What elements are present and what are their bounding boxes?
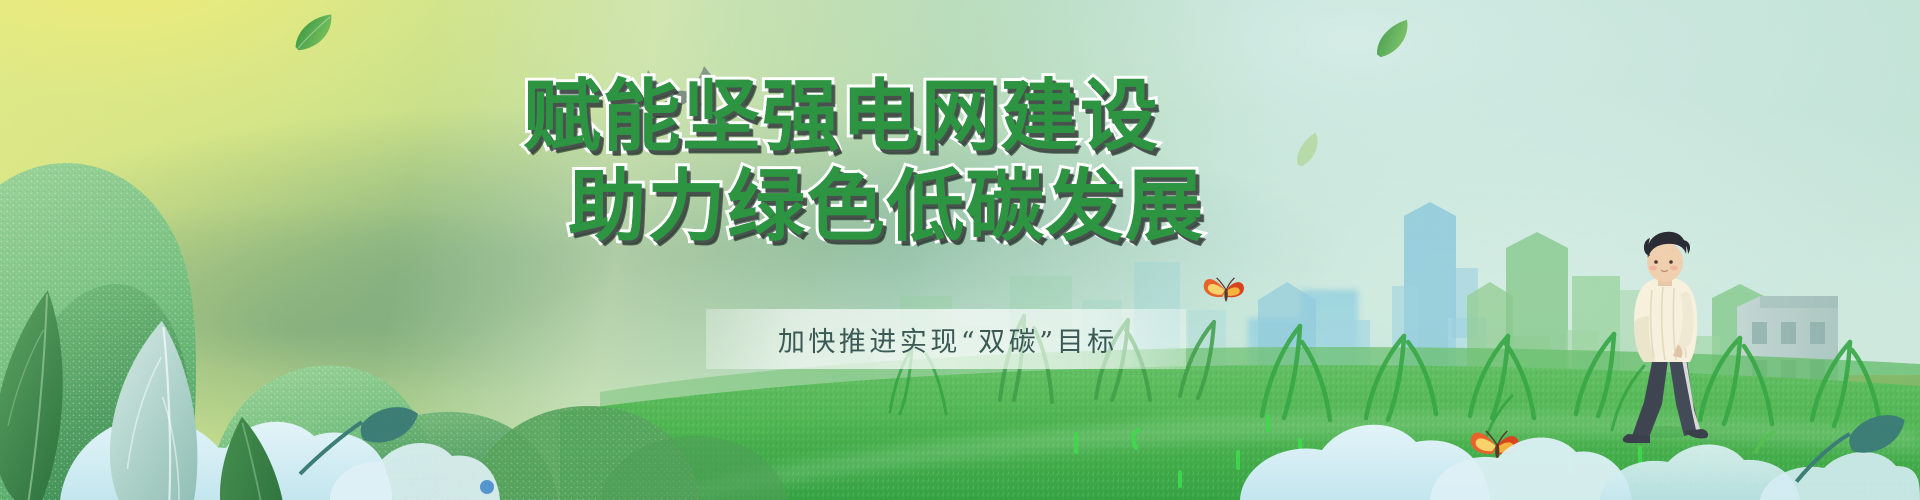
subtitle-panel: 加快推进实现“双碳”目标 <box>706 309 1186 369</box>
eco-banner: 赋能坚强电网建设 赋能坚强电网建设 助力绿色低碳发展 助力绿色低碳发展 加快推进… <box>0 0 1920 500</box>
title-line-1-fill: 赋能坚强电网建设 <box>523 78 1159 156</box>
title-line-2-fill: 助力绿色低碳发展 <box>568 168 1204 246</box>
headline-block: 赋能坚强电网建设 赋能坚强电网建设 助力绿色低碳发展 助力绿色低碳发展 <box>0 0 1920 500</box>
subtitle-text: 加快推进实现“双碳”目标 <box>774 320 1117 359</box>
